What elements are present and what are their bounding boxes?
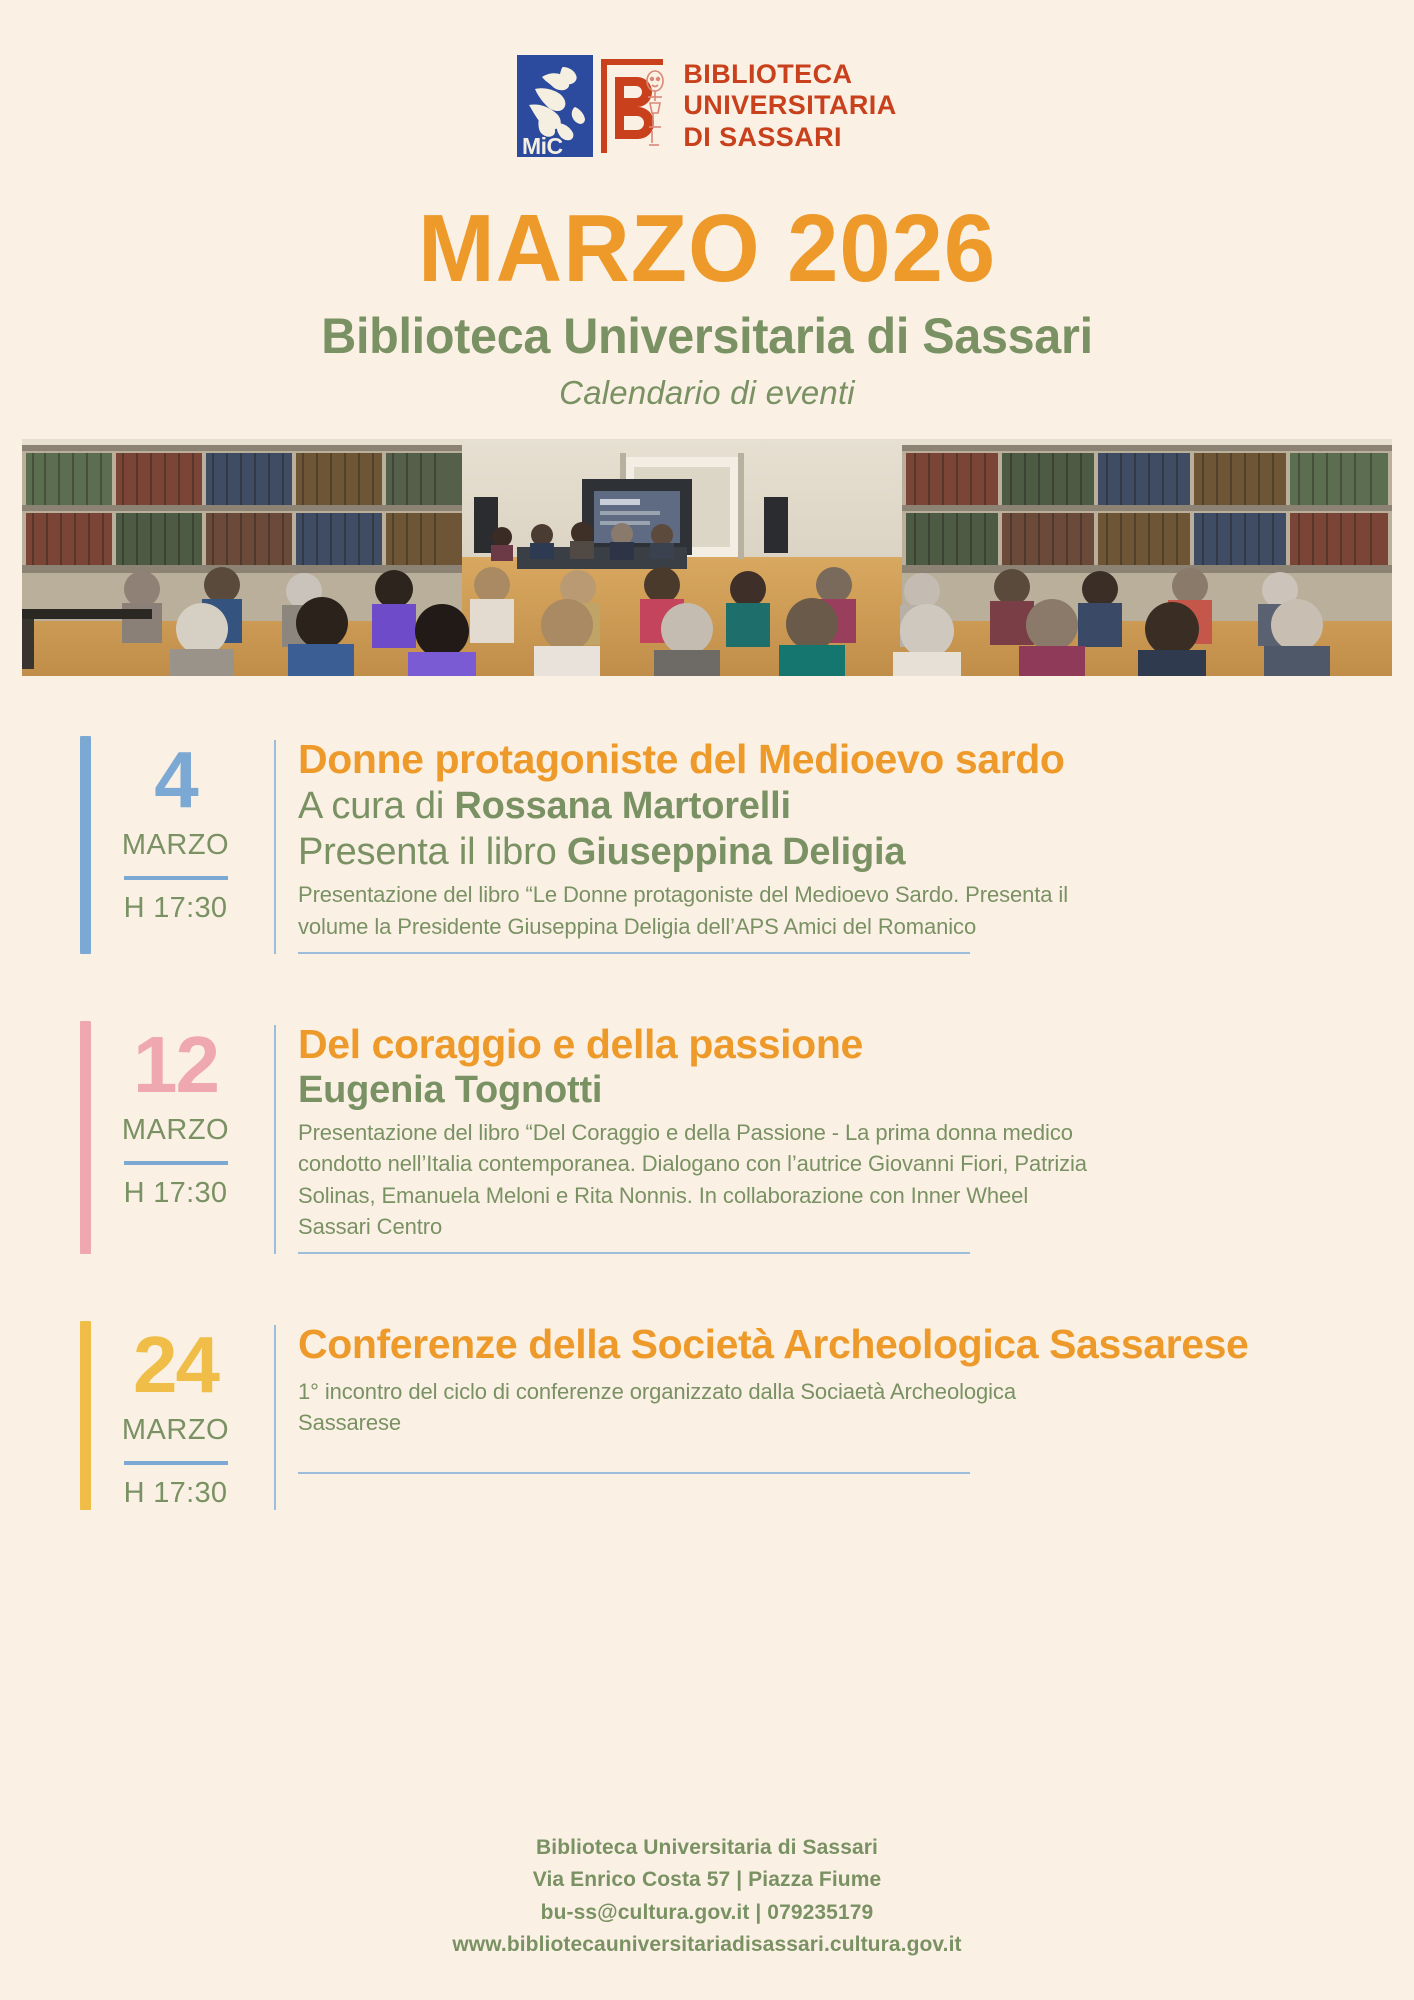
page-subtitle: Biblioteca Universitaria di Sassari	[21, 309, 1393, 364]
event-description: 1° incontro del ciclo di conferenze orga…	[298, 1376, 1098, 1438]
event-vertical-divider	[274, 1025, 276, 1254]
event-bottom-divider	[298, 1472, 970, 1474]
mic-ministry-icon: MiC	[517, 55, 593, 157]
event-description: Presentazione del libro “Del Coraggio e …	[298, 1117, 1098, 1242]
event-accent-bar	[80, 736, 91, 954]
event-bottom-divider	[298, 952, 970, 954]
event-presenter-name: Giuseppina Deligia	[567, 831, 905, 873]
event-description: Presentazione del libro “Le Donne protag…	[298, 879, 1098, 941]
logo-line-3: DI SASSARI	[683, 122, 896, 153]
event-day-number: 12	[133, 1027, 218, 1104]
footer-address: Via Enrico Costa 57 | Piazza Fiume	[0, 1864, 1414, 1897]
date-divider	[124, 1161, 228, 1165]
event-time-label: H 17:30	[124, 892, 228, 925]
page-title: MARZO 2026	[28, 201, 1385, 297]
event-item: 4 MARZO H 17:30 Donne protagoniste del M…	[80, 736, 1354, 954]
footer-institution: Biblioteca Universitaria di Sassari	[0, 1832, 1414, 1865]
event-content: Del coraggio e della passione Eugenia To…	[298, 1021, 1354, 1254]
event-month-label: MARZO	[122, 829, 229, 862]
biblioteca-b-icon	[597, 55, 669, 157]
poster-root: MiC	[0, 0, 1414, 2000]
event-presenter-prefix: Presenta il libro	[298, 831, 567, 873]
page-tagline: Calendario di eventi	[0, 374, 1414, 412]
event-vertical-divider	[274, 740, 276, 954]
footer-website[interactable]: www.bibliotecauniversitariadisassari.cul…	[0, 1929, 1414, 1962]
event-item: 24 MARZO H 17:30 Conferenze della Societ…	[80, 1321, 1354, 1510]
event-time-label: H 17:30	[124, 1177, 228, 1210]
event-title: Del coraggio e della passione	[298, 1021, 1354, 1068]
event-vertical-divider	[274, 1325, 276, 1510]
event-month-label: MARZO	[122, 1114, 229, 1147]
logo-header: MiC	[0, 0, 1414, 157]
event-presenter-name: Eugenia Tognotti	[298, 1068, 1354, 1114]
event-month-label: MARZO	[122, 1414, 229, 1447]
logo-line-1: BIBLIOTECA	[683, 59, 896, 90]
title-block: MARZO 2026 Biblioteca Universitaria di S…	[0, 201, 1414, 412]
event-content: Conferenze della Società Archeologica Sa…	[298, 1321, 1354, 1510]
events-list: 4 MARZO H 17:30 Donne protagoniste del M…	[0, 736, 1414, 1510]
event-curator-prefix: A cura di	[298, 785, 454, 827]
event-content: Donne protagoniste del Medioevo sardo A …	[298, 736, 1354, 954]
event-curator-line: A cura di Rossana Martorelli	[298, 783, 1354, 829]
event-accent-bar	[80, 1021, 91, 1254]
hero-photo	[22, 439, 1392, 676]
event-curator-name: Rossana Martorelli	[454, 785, 790, 827]
event-day-number: 24	[133, 1327, 218, 1404]
event-bottom-divider	[298, 1252, 970, 1254]
event-presenter-line: Presenta il libro Giuseppina Deligia	[298, 829, 1354, 875]
date-divider	[124, 876, 228, 880]
event-time-label: H 17:30	[124, 1477, 228, 1510]
event-date-column: 4 MARZO H 17:30	[80, 736, 260, 954]
event-date-column: 12 MARZO H 17:30	[80, 1021, 260, 1254]
event-item: 12 MARZO H 17:30 Del coraggio e della pa…	[80, 1021, 1354, 1254]
date-divider	[124, 1461, 228, 1465]
event-title: Conferenze della Società Archeologica Sa…	[298, 1321, 1354, 1368]
event-accent-bar	[80, 1321, 91, 1510]
event-title: Donne protagoniste del Medioevo sardo	[298, 736, 1354, 783]
footer-contact: Biblioteca Universitaria di Sassari Via …	[0, 1832, 1414, 1962]
logo-line-2: UNIVERSITARIA	[683, 90, 896, 121]
event-date-column: 24 MARZO H 17:30	[80, 1321, 260, 1510]
logo-wordmark: BIBLIOTECA UNIVERSITARIA DI SASSARI	[683, 55, 896, 157]
event-day-number: 4	[154, 742, 197, 819]
svg-text:MiC: MiC	[522, 133, 563, 157]
institution-logo: MiC	[517, 55, 896, 157]
footer-email-phone: bu-ss@cultura.gov.it | 079235179	[0, 1897, 1414, 1930]
